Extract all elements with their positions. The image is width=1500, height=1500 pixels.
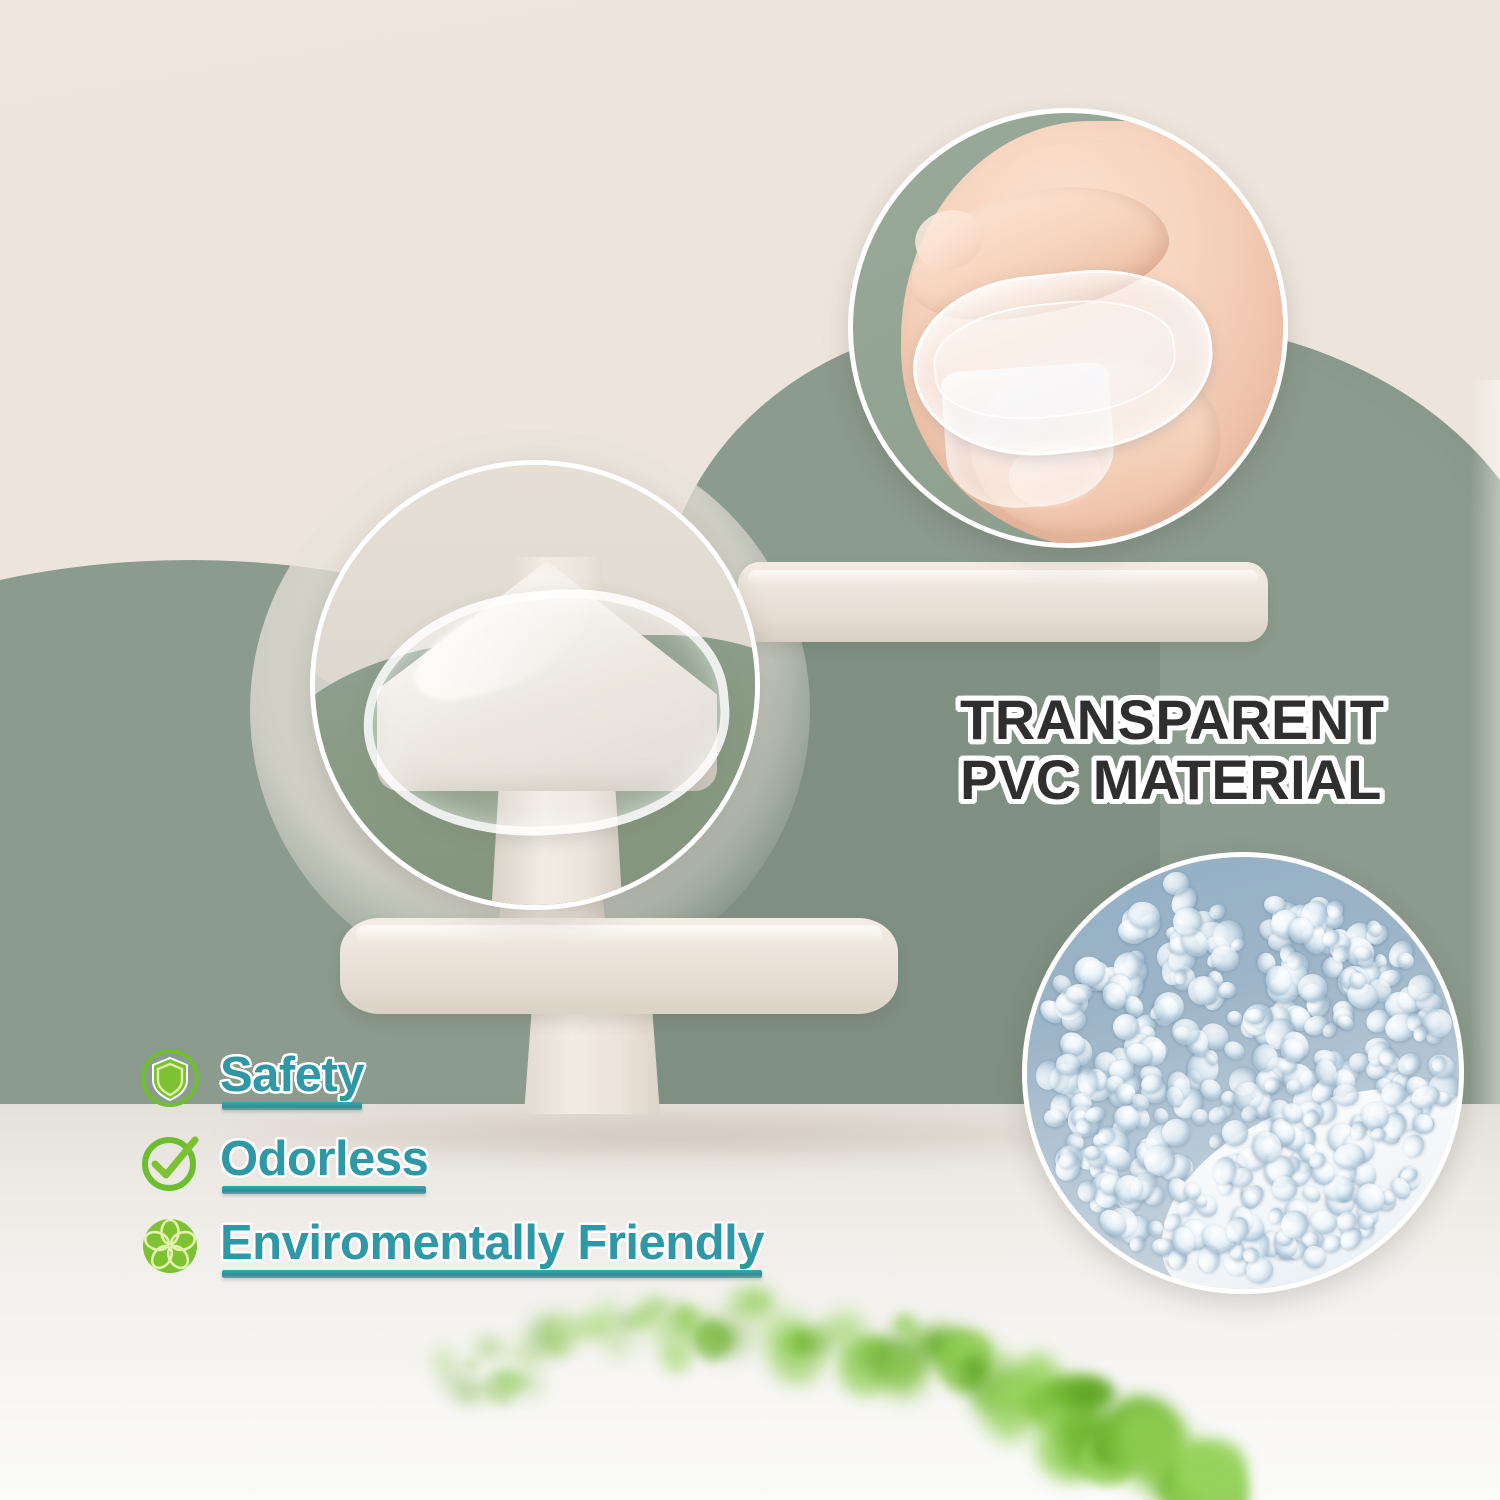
foliage-leaf [749,1291,774,1311]
page-title: TRANSPARENT PVC MATERIAL [960,690,1480,811]
foliage-leaf [518,1372,540,1397]
headline-line-2: PVC MATERIAL [960,750,1480,810]
upper-shelf [738,562,1268,642]
feature-label: Safety [220,1051,364,1100]
pedestal-tabletop [340,918,898,1014]
pvc-pellet [1298,973,1328,1001]
pvc-pellet [1066,983,1093,1004]
headline-line-1: TRANSPARENT [960,690,1480,750]
foliage-leaf [452,1378,487,1404]
feature-label-wrap-odorless: Odorless [220,1135,428,1190]
pvc-pellet [1220,1118,1251,1148]
flower-icon [138,1214,202,1278]
foliage-leaf [474,1337,503,1360]
feature-underline [222,1186,426,1194]
feature-underline [222,1102,362,1110]
foliage-leaf [1069,1379,1116,1408]
foliage-decoration [430,1250,1210,1500]
feature-label: Odorless [220,1135,428,1184]
feature-label-wrap-safety: Safety [220,1051,364,1106]
pvc-pellet [1207,1132,1224,1151]
feature-item-safety: Safety [138,1036,898,1120]
pvc-pellet [1332,1082,1360,1106]
feature-item-odorless: Odorless [138,1120,898,1204]
check-circle-icon [138,1130,202,1194]
shield-icon [138,1046,202,1110]
foliage-leaf [661,1342,692,1373]
guard-macro-photo [310,460,760,910]
pvc-pellet [1400,1131,1427,1160]
pvc-pellet [1044,1109,1066,1127]
foliage-leaf [716,1331,735,1343]
foliage-leaf [992,1353,1011,1371]
foliage-leaf [1179,1439,1247,1500]
hand-holding-guard-photo [848,108,1288,548]
pvc-pellets-photo [1022,852,1464,1294]
pvc-pellet [1175,969,1186,985]
foliage-leaf [463,1359,479,1371]
foliage-leaf [551,1340,569,1355]
pvc-pellet [1431,1056,1446,1072]
pvc-pellet-group [1027,857,1459,1289]
product-marketing-image: TRANSPARENT PVC MATERIAL Safety [0,0,1500,1500]
foliage-leaf [606,1328,630,1354]
pvc-pellet [1147,1220,1163,1237]
